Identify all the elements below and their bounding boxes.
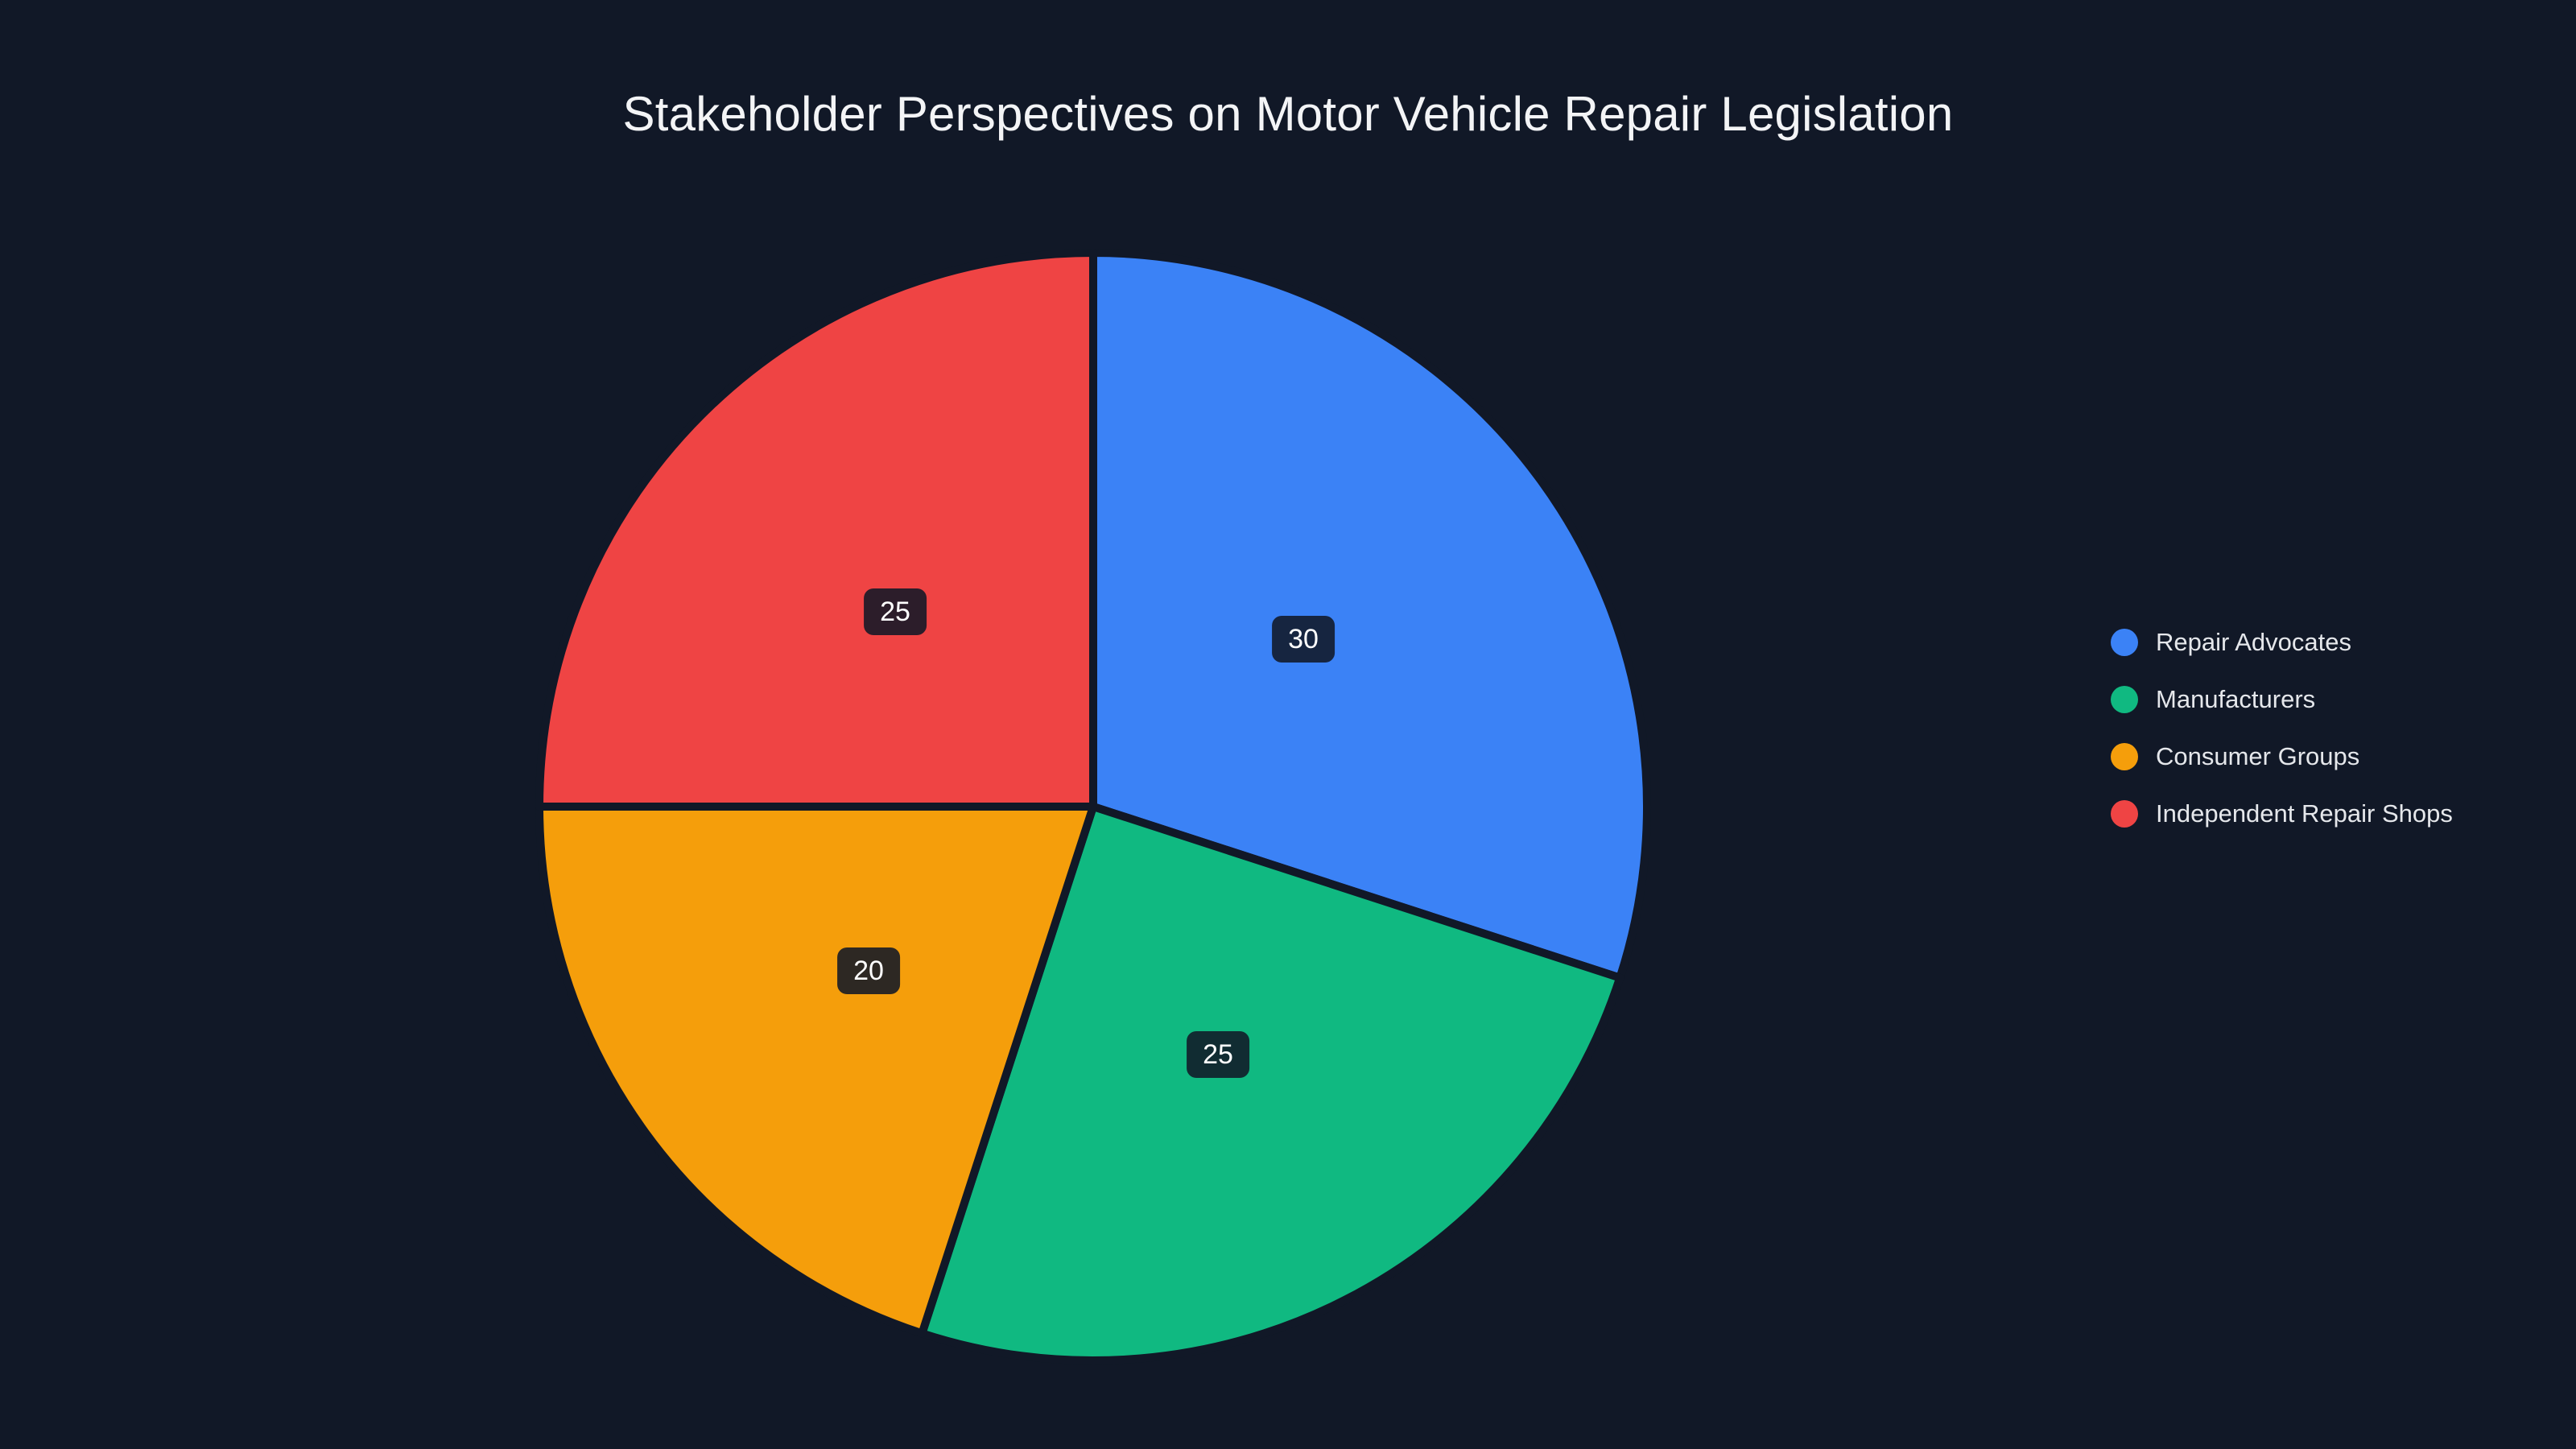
legend-item-label: Manufacturers xyxy=(2156,687,2315,712)
pie-plot-area: 30252025 xyxy=(0,0,2061,1449)
legend-swatch-icon xyxy=(2111,800,2138,828)
pie-chart: Stakeholder Perspectives on Motor Vehicl… xyxy=(0,0,2576,1449)
pie-slice-group xyxy=(539,253,1647,1360)
legend-swatch-icon xyxy=(2111,743,2138,770)
legend-item[interactable]: Independent Repair Shops xyxy=(2111,785,2529,842)
legend: Repair AdvocatesManufacturersConsumer Gr… xyxy=(2111,613,2529,842)
legend-swatch-icon xyxy=(2111,686,2138,713)
pie-svg xyxy=(0,0,2061,1449)
legend-item-label: Consumer Groups xyxy=(2156,744,2359,769)
legend-item[interactable]: Consumer Groups xyxy=(2111,728,2529,785)
pie-slice[interactable] xyxy=(539,253,1093,807)
legend-item[interactable]: Repair Advocates xyxy=(2111,613,2529,671)
legend-item-label: Repair Advocates xyxy=(2156,630,2351,654)
legend-swatch-icon xyxy=(2111,629,2138,656)
legend-item-label: Independent Repair Shops xyxy=(2156,801,2453,826)
legend-item[interactable]: Manufacturers xyxy=(2111,671,2529,728)
